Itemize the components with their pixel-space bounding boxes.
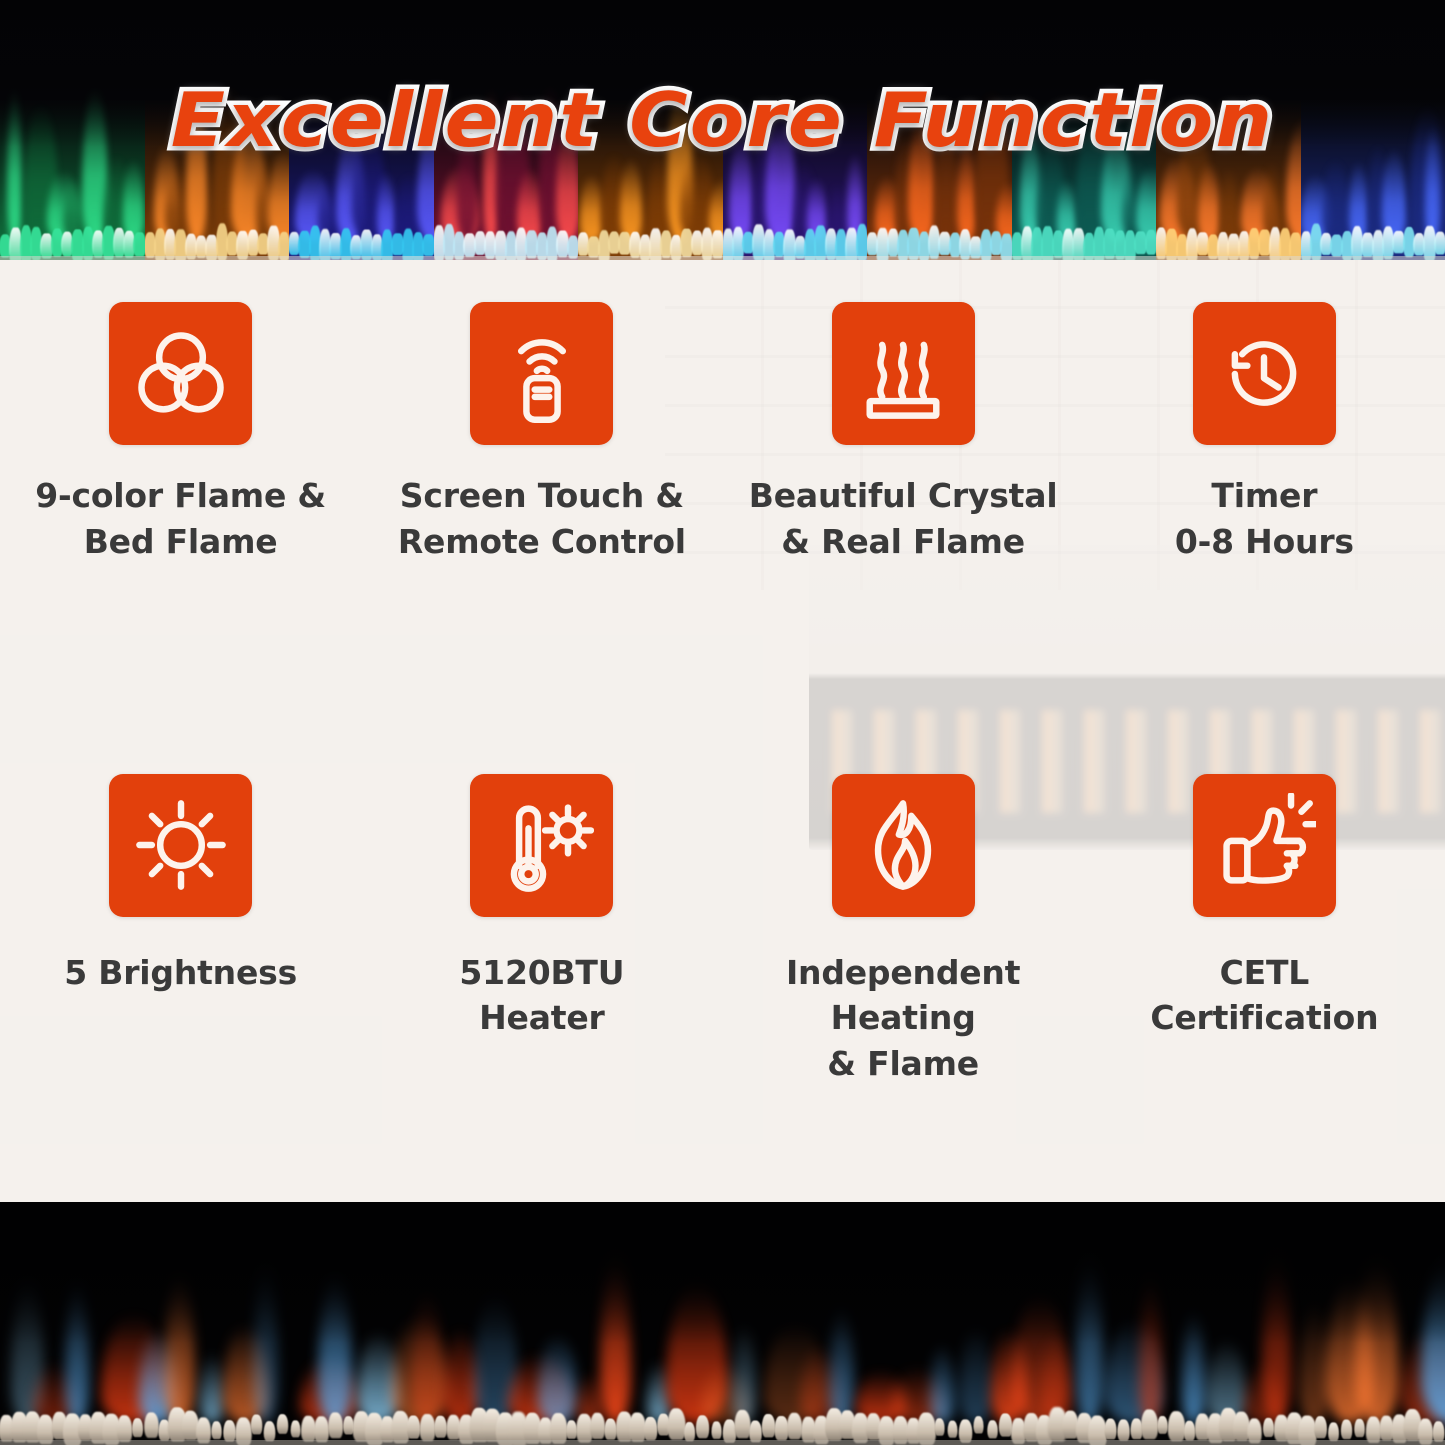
feature-cell: Screen Touch & Remote Control [361,260,722,732]
crystal [133,232,144,256]
pebble [1355,1419,1366,1437]
feature-label: Beautiful Crystal & Real Flame [749,473,1058,564]
pebble [1117,1419,1130,1441]
feature-cell: 5 Brightness [0,732,361,1204]
pebble [934,1418,944,1435]
feature-icon-tile [109,302,252,445]
flame [538,1333,577,1423]
pebble [1263,1418,1274,1437]
pebble [974,1416,984,1433]
pebble [762,1414,776,1437]
feature-cell: 5120BTU Heater [361,732,722,1204]
feature-icon-tile [832,302,975,445]
pebble [684,1422,695,1441]
feature-icon-tile [109,774,252,917]
feature-label: 9-color Flame & Bed Flame [35,473,326,564]
thermometer-sun-icon [490,793,594,897]
pebble [144,1412,159,1437]
feature-icon-tile [470,302,613,445]
feature-grid: 9-color Flame & Bed FlameScreen Touch & … [0,260,1445,1203]
sun-brightness-icon [129,793,233,897]
thumbs-up-icon [1212,793,1316,897]
page-title: Excellent Core Function [171,76,1274,164]
pebble [132,1418,143,1437]
flame [1322,159,1349,241]
pebble [948,1421,958,1438]
feature-label: 5 Brightness [64,950,297,996]
pebble [291,1420,301,1437]
feature-label: Independent Heating & Flame [723,950,1084,1087]
crystal [1145,230,1156,255]
remote-control-icon [490,322,594,426]
crystal [711,230,722,258]
product-feature-infographic: Excellent Core Function 9-color Flame & … [0,0,1445,1445]
feature-cell: 9-color Flame & Bed Flame [0,260,361,732]
pebble [212,1421,222,1439]
feature-label: 5120BTU Heater [459,950,624,1041]
flame [123,159,143,241]
timer-clock-icon [1212,322,1316,426]
pebble [987,1420,998,1438]
pebble [1158,1416,1168,1434]
page-title-wrapper: Excellent Core Function [0,76,1445,164]
crystal [422,234,433,256]
pebble [1433,1421,1445,1442]
bottom-banner-base-line [0,1440,1445,1445]
pebble [434,1416,447,1438]
bottom-flame-banner [0,1202,1445,1445]
flame-icon [851,793,955,897]
pebble [1167,1411,1185,1441]
pebble [1328,1422,1339,1441]
pebble [1314,1416,1327,1438]
pebble [277,1414,289,1434]
feature-cell: CETL Certification [1084,732,1445,1204]
pebble [117,1415,133,1442]
features-section: 9-color Flame & Bed FlameScreen Touch & … [0,260,1445,1203]
crystal [1434,232,1445,255]
flame [648,153,669,241]
feature-label: CETL Certification [1150,950,1378,1041]
pebble [1141,1409,1158,1439]
feature-icon-tile [1193,302,1336,445]
feature-icon-tile [1193,774,1336,917]
pebble [590,1413,605,1439]
feature-label: Screen Touch & Remote Control [398,473,686,564]
feature-cell: Independent Heating & Flame [723,732,1084,1204]
bottom-crystal-bed [0,1415,1445,1441]
feature-icon-tile [470,774,613,917]
heat-waves-icon [851,322,955,426]
pebble [1183,1421,1195,1441]
pebble [250,1414,262,1434]
feature-icon-tile [832,774,975,917]
pebble [1341,1420,1352,1440]
pebble [711,1421,721,1439]
flame [200,1352,224,1423]
pebble [407,1415,420,1438]
color-wheel-icon [129,322,233,426]
bottom-banner-fade [0,1202,1445,1343]
pebble [328,1412,343,1438]
pebble [696,1415,709,1438]
feature-cell: Timer 0-8 Hours [1084,260,1445,732]
feature-cell: Beautiful Crystal & Real Flame [723,260,1084,732]
pebble [1104,1419,1116,1440]
pebble [263,1421,275,1441]
flame [620,158,642,241]
pebble [644,1417,658,1441]
feature-label: Timer 0-8 Hours [1175,473,1354,564]
pebble [419,1414,435,1441]
flame [930,1343,954,1423]
